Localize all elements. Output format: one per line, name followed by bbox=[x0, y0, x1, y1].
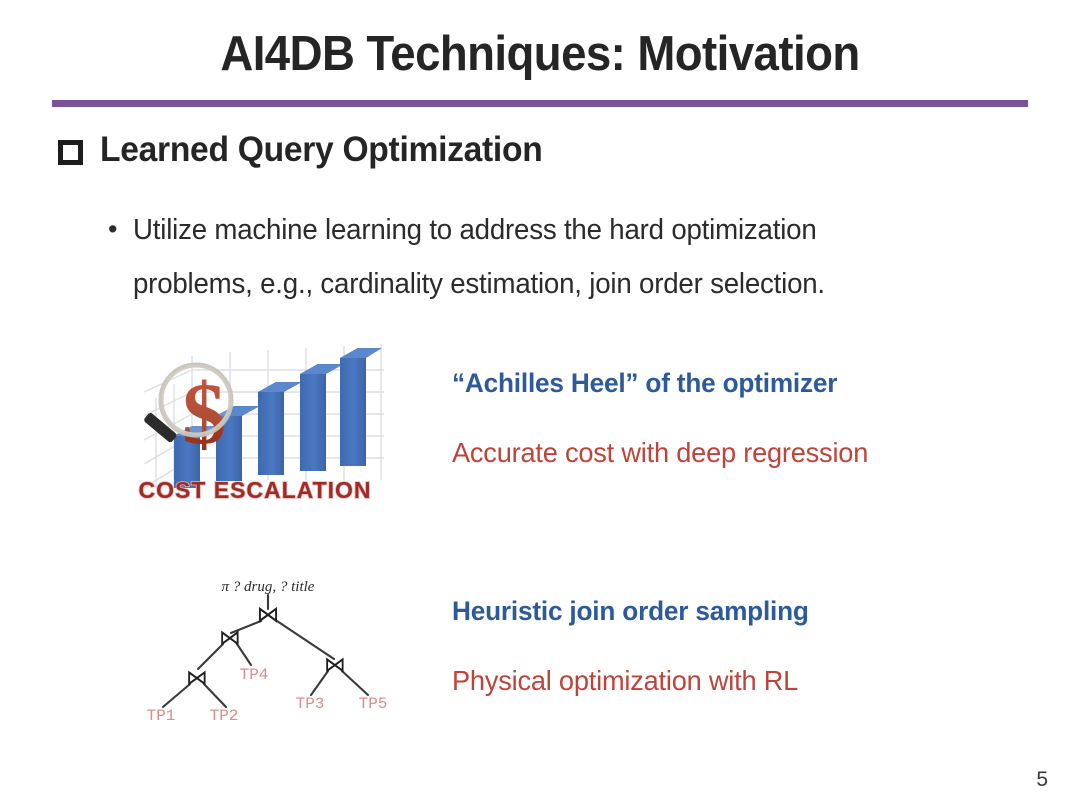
tree-root-label: π ? drug, ? title bbox=[222, 579, 315, 595]
cost-escalation-clipart: $ COST ESCALATION bbox=[126, 338, 384, 510]
point-2-heading: Heuristic join order sampling bbox=[452, 596, 809, 627]
tree-leaf-tp4: TP4 bbox=[240, 666, 269, 684]
bar-5 bbox=[340, 348, 382, 466]
section-heading-label: Learned Query Optimization bbox=[100, 130, 542, 170]
join-node-root: ⋈ bbox=[257, 602, 280, 628]
section-heading: Learned Query Optimization bbox=[58, 130, 561, 170]
page-number: 5 bbox=[1036, 768, 1048, 792]
tree-leaf-tp1: TP1 bbox=[147, 707, 176, 725]
slide-canvas: AI4DB Techniques: Motivation Learned Que… bbox=[0, 0, 1080, 810]
tree-leaves: TP1 TP2 TP4 TP3 TP5 bbox=[147, 666, 388, 725]
point-block-1: “Achilles Heel” of the optimizer Accurat… bbox=[452, 368, 881, 469]
tree-leaf-tp5: TP5 bbox=[359, 695, 388, 713]
body-bullet-item: • Utilize machine learning to address th… bbox=[108, 203, 1008, 311]
point-2-subtext: Physical optimization with RL bbox=[452, 665, 809, 697]
cost-escalation-caption: COST ESCALATION bbox=[138, 477, 371, 503]
tree-leaf-tp2: TP2 bbox=[210, 707, 239, 725]
title-divider bbox=[52, 100, 1028, 107]
join-node-left: ⋈ bbox=[219, 626, 241, 651]
point-block-2: Heuristic join order sampling Physical o… bbox=[452, 596, 820, 697]
tree-leaf-tp3: TP3 bbox=[296, 695, 325, 713]
join-node-right: ⋈ bbox=[324, 653, 346, 678]
round-dot-bullet-icon: • bbox=[108, 203, 117, 311]
body-text-line-1: Utilize machine learning to address the … bbox=[133, 203, 825, 257]
bar-4 bbox=[300, 364, 344, 471]
join-order-tree-figure: π ? drug, ? title ⋈ ⋈ ⋈ ⋈ TP1 TP2 TP4 TP… bbox=[118, 565, 408, 730]
join-node-left-left: ⋈ bbox=[186, 666, 208, 691]
bar-3 bbox=[258, 382, 302, 475]
point-1-heading: “Achilles Heel” of the optimizer bbox=[452, 368, 868, 399]
page-title: AI4DB Techniques: Motivation bbox=[38, 26, 1042, 82]
point-1-subtext: Accurate cost with deep regression bbox=[452, 437, 868, 469]
body-text-line-2: problems, e.g., cardinality estimation, … bbox=[133, 257, 825, 311]
empty-square-bullet-icon bbox=[58, 140, 83, 165]
